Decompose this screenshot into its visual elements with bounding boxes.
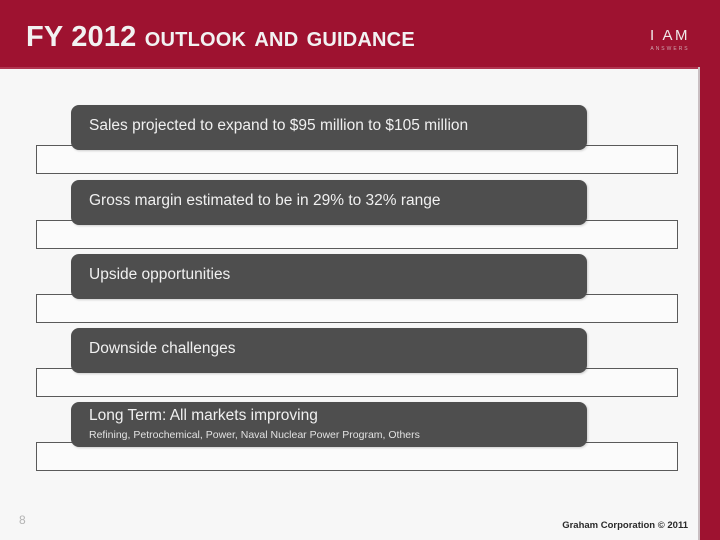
- bullet-row-title: Upside opportunities: [89, 265, 230, 285]
- bullet-rows: Sales projected to expand to $95 million…: [0, 0, 720, 540]
- bullet-row-title: Long Term: All markets improving: [89, 406, 318, 426]
- bullet-row-title: Gross margin estimated to be in 29% to 3…: [89, 191, 441, 211]
- bullet-row-chip[interactable]: Sales projected to expand to $95 million…: [71, 105, 587, 150]
- bullet-row: Upside opportunities: [0, 254, 700, 328]
- bullet-row-chip[interactable]: Downside challenges: [71, 328, 587, 373]
- bullet-row: Sales projected to expand to $95 million…: [0, 105, 700, 179]
- bullet-row-chip[interactable]: Upside opportunities: [71, 254, 587, 299]
- bullet-row: Long Term: All markets improving Refinin…: [0, 402, 700, 476]
- page-number: 8: [19, 513, 26, 527]
- slide: FY 2012 Outlook and Guidance I AM ANSWER…: [0, 0, 720, 540]
- bullet-row-chip[interactable]: Long Term: All markets improving Refinin…: [71, 402, 587, 447]
- bullet-row: Downside challenges: [0, 328, 700, 402]
- bullet-row-subtitle: Refining, Petrochemical, Power, Naval Nu…: [89, 428, 420, 442]
- bullet-row-title: Downside challenges: [89, 339, 235, 359]
- footer-copyright: Graham Corporation © 2011: [562, 520, 688, 532]
- bullet-row: Gross margin estimated to be in 29% to 3…: [0, 180, 700, 254]
- bullet-row-title: Sales projected to expand to $95 million…: [89, 116, 468, 136]
- bullet-row-chip[interactable]: Gross margin estimated to be in 29% to 3…: [71, 180, 587, 225]
